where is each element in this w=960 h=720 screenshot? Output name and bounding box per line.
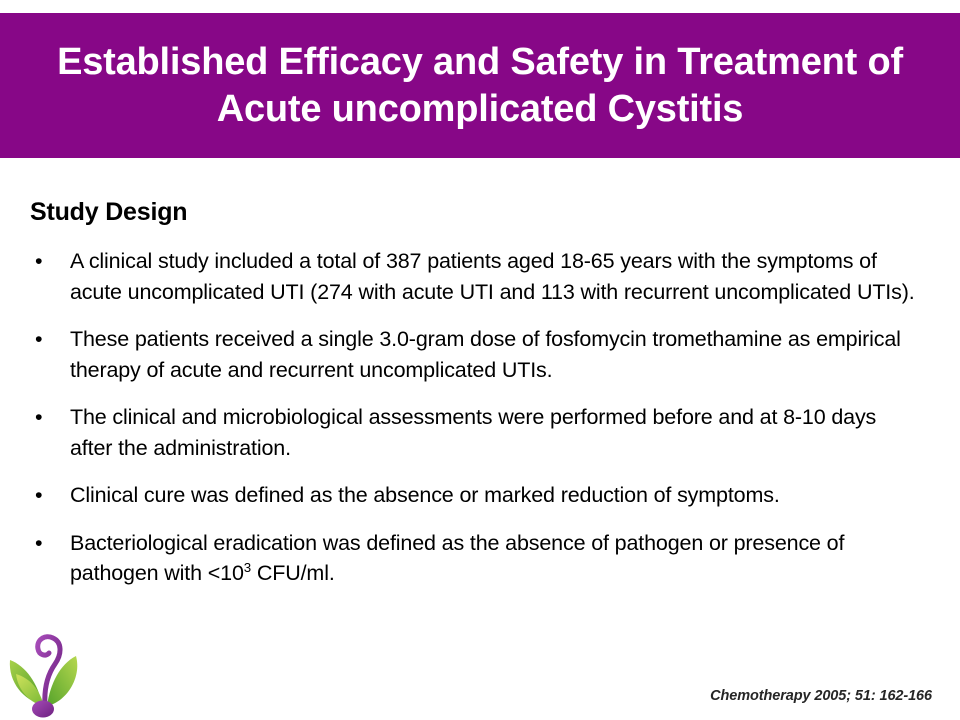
page-title: Established Efficacy and Safety in Treat…	[16, 39, 944, 132]
list-item-text-prefix: Bacteriological eradication was defined …	[70, 531, 844, 586]
title-line-1: Established Efficacy and Safety in Treat…	[16, 39, 944, 85]
title-banner: Established Efficacy and Safety in Treat…	[0, 13, 960, 158]
list-item-text-superscript: 3	[244, 560, 251, 575]
bullet-marker-icon: •	[35, 480, 42, 511]
slide-body: Study Design • A clinical study included…	[0, 158, 960, 720]
list-item-text: These patients received a single 3.0-gra…	[70, 327, 901, 382]
bullet-marker-icon: •	[35, 246, 42, 277]
list-item: • Bacteriological eradication was define…	[0, 528, 960, 589]
title-line-2: Acute uncomplicated Cystitis	[16, 86, 944, 132]
bullet-marker-icon: •	[35, 402, 42, 433]
list-item-text: Clinical cure was defined as the absence…	[70, 483, 780, 507]
slide-canvas: Established Efficacy and Safety in Treat…	[0, 0, 960, 720]
bullet-list: • A clinical study included a total of 3…	[0, 246, 960, 589]
section-heading: Study Design	[30, 200, 187, 225]
list-item-text: Bacteriological eradication was defined …	[70, 531, 844, 586]
list-item: • These patients received a single 3.0-g…	[0, 324, 960, 385]
sprout-plant-logo	[2, 622, 94, 718]
bullet-marker-icon: •	[35, 324, 42, 355]
list-item: • The clinical and microbiological asses…	[0, 402, 960, 463]
list-item: • Clinical cure was defined as the absen…	[0, 480, 960, 511]
list-item-text-suffix: CFU/ml.	[251, 561, 335, 585]
list-item-text: The clinical and microbiological assessm…	[70, 405, 876, 460]
citation-text: Chemotherapy 2005; 51: 162-166	[710, 688, 932, 704]
bullet-marker-icon: •	[35, 528, 42, 559]
list-item-text: A clinical study included a total of 387…	[70, 249, 915, 304]
list-item: • A clinical study included a total of 3…	[0, 246, 960, 307]
